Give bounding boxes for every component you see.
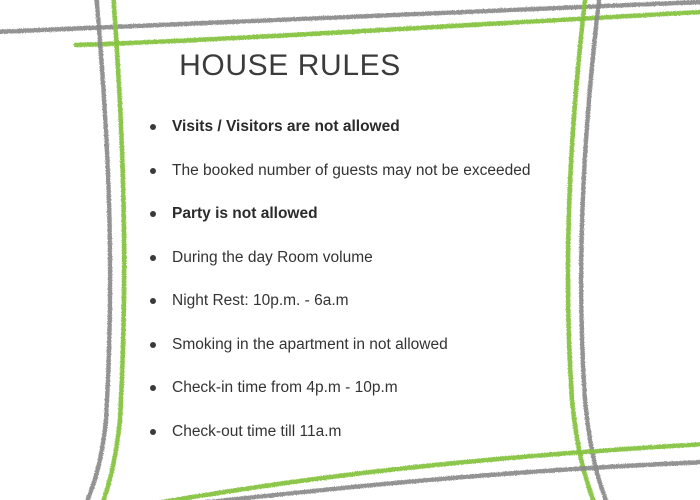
list-item: The booked number of guests may not be e… — [150, 161, 530, 205]
rule-text: Party is not allowed — [172, 204, 318, 223]
list-item: Party is not allowed — [150, 204, 530, 248]
list-item: Check-out time till 11a.m — [150, 422, 530, 466]
list-item: During the day Room volume — [150, 248, 530, 292]
list-item: Night Rest: 10p.m. - 6a.m — [150, 291, 530, 335]
rule-text: Check-in time from 4p.m - 10p.m — [172, 378, 398, 397]
rule-text: The booked number of guests may not be e… — [172, 161, 530, 180]
bullet-icon — [150, 385, 156, 391]
list-item: Smoking in the apartment in not allowed — [150, 335, 530, 379]
bullet-icon — [150, 429, 156, 435]
rule-text: Check-out time till 11a.m — [172, 422, 341, 441]
bullet-icon — [150, 211, 156, 217]
bullet-icon — [150, 342, 156, 348]
page-title: HOUSE RULES — [0, 49, 580, 83]
rule-text: During the day Room volume — [172, 248, 373, 267]
rule-text: Visits / Visitors are not allowed — [172, 117, 400, 136]
house-rules-poster: HOUSE RULES Visits / Visitors are not al… — [0, 0, 700, 500]
bullet-icon — [150, 255, 156, 261]
bullet-icon — [150, 124, 156, 130]
house-rules-list: Visits / Visitors are not allowed The bo… — [150, 117, 530, 465]
list-item: Check-in time from 4p.m - 10p.m — [150, 378, 530, 422]
poster-content: HOUSE RULES Visits / Visitors are not al… — [0, 0, 700, 500]
bullet-icon — [150, 298, 156, 304]
bullet-icon — [150, 168, 156, 174]
rule-text: Smoking in the apartment in not allowed — [172, 335, 448, 354]
list-item: Visits / Visitors are not allowed — [150, 117, 530, 161]
rule-text: Night Rest: 10p.m. - 6a.m — [172, 291, 349, 310]
